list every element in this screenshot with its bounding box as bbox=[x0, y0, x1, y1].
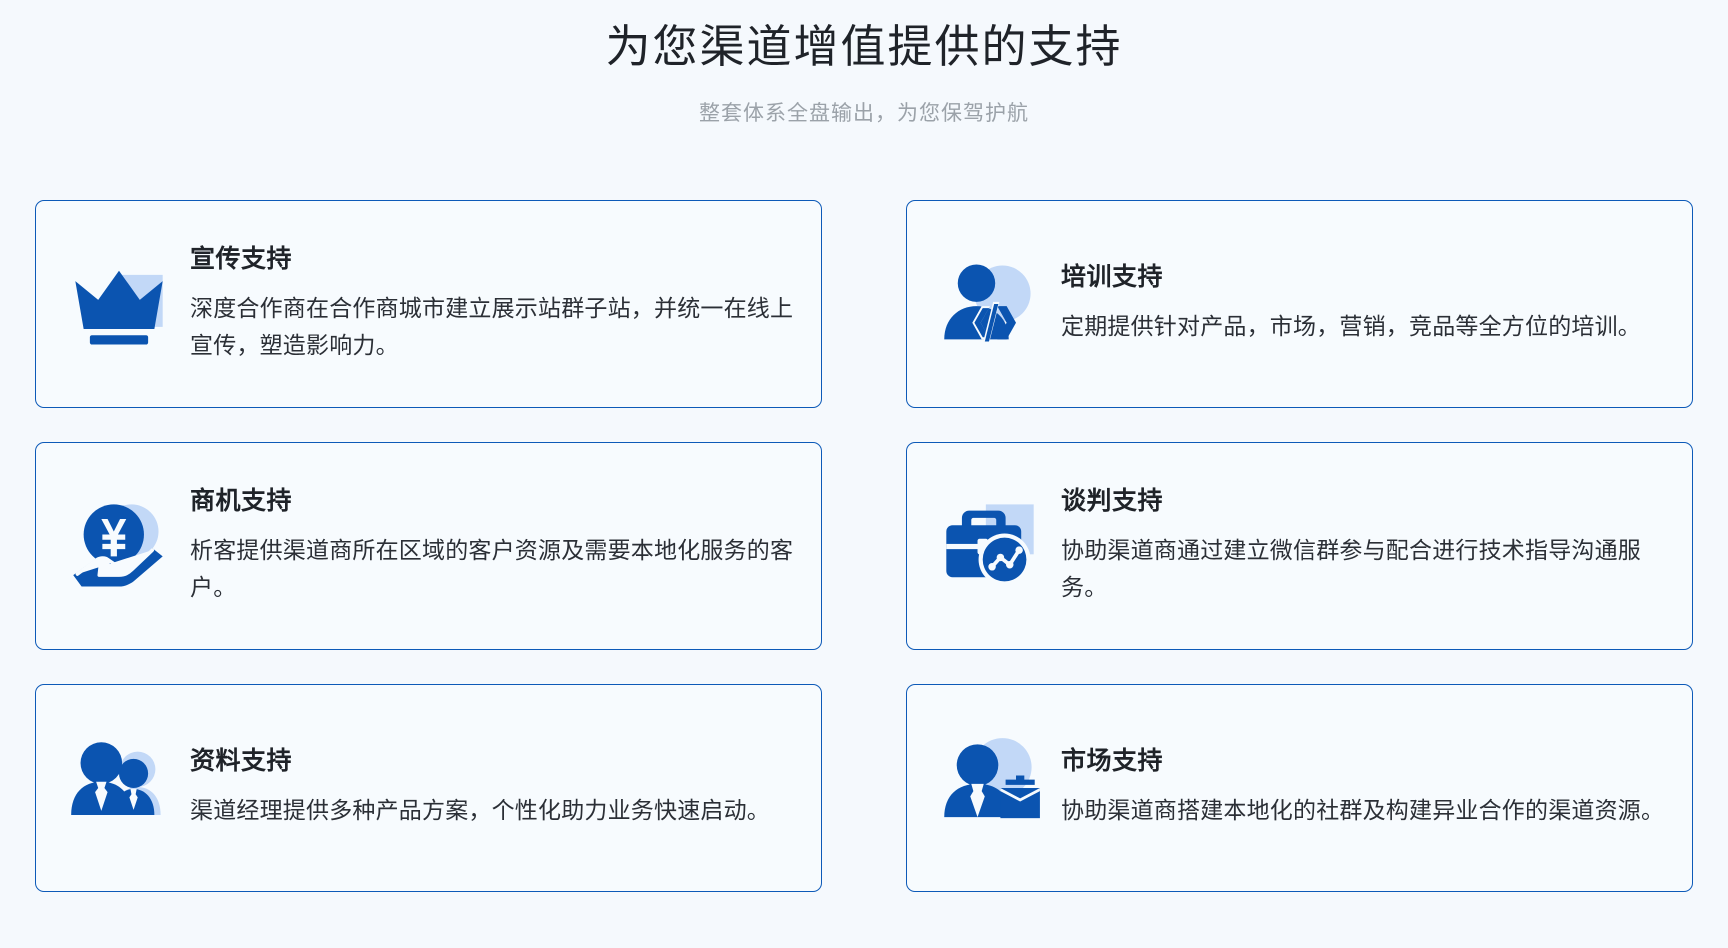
card-title: 资料支持 bbox=[190, 746, 795, 776]
card-title: 商机支持 bbox=[190, 486, 795, 516]
card-title: 培训支持 bbox=[1061, 262, 1666, 292]
card-body: 市场支持 协助渠道商搭建本地化的社群及构建异业合作的渠道资源。 bbox=[1051, 746, 1666, 829]
support-card-training[interactable]: 培训支持 定期提供针对产品，市场，营销，竞品等全方位的培训。 bbox=[906, 200, 1693, 408]
card-body: 宣传支持 深度合作商在合作商城市建立展示站群子站，并统一在线上宣传，塑造影响力。 bbox=[180, 244, 795, 365]
card-description: 协助渠道商搭建本地化的社群及构建异业合作的渠道资源。 bbox=[1061, 792, 1666, 829]
card-body: 商机支持 析客提供渠道商所在区域的客户资源及需要本地化服务的客户。 bbox=[180, 486, 795, 607]
briefcase-chart-icon bbox=[929, 485, 1051, 607]
support-cards-grid: 宣传支持 深度合作商在合作商城市建立展示站群子站，并统一在线上宣传，塑造影响力。 bbox=[35, 200, 1693, 892]
card-title: 市场支持 bbox=[1061, 746, 1666, 776]
card-description: 深度合作商在合作商城市建立展示站群子站，并统一在线上宣传，塑造影响力。 bbox=[190, 290, 795, 365]
support-card-negotiation[interactable]: 谈判支持 协助渠道商通过建立微信群参与配合进行技术指导沟通服务。 bbox=[906, 442, 1693, 650]
card-description: 协助渠道商通过建立微信群参与配合进行技术指导沟通服务。 bbox=[1061, 532, 1666, 607]
card-description: 渠道经理提供多种产品方案，个性化助力业务快速启动。 bbox=[190, 792, 795, 829]
page-header: 为您渠道增值提供的支持 整套体系全盘输出，为您保驾护航 bbox=[0, 0, 1728, 127]
person-code-icon bbox=[929, 243, 1051, 365]
support-page: 为您渠道增值提供的支持 整套体系全盘输出，为您保驾护航 宣传支持 深度合作商在合… bbox=[0, 0, 1728, 948]
card-body: 资料支持 渠道经理提供多种产品方案，个性化助力业务快速启动。 bbox=[180, 746, 795, 829]
support-card-business-opportunity[interactable]: 商机支持 析客提供渠道商所在区域的客户资源及需要本地化服务的客户。 bbox=[35, 442, 822, 650]
crown-icon bbox=[58, 243, 180, 365]
support-card-market[interactable]: 市场支持 协助渠道商搭建本地化的社群及构建异业合作的渠道资源。 bbox=[906, 684, 1693, 892]
page-subtitle: 整套体系全盘输出，为您保驾护航 bbox=[0, 97, 1728, 127]
card-title: 宣传支持 bbox=[190, 244, 795, 274]
support-card-publicity[interactable]: 宣传支持 深度合作商在合作商城市建立展示站群子站，并统一在线上宣传，塑造影响力。 bbox=[35, 200, 822, 408]
card-body: 培训支持 定期提供针对产品，市场，营销，竞品等全方位的培训。 bbox=[1051, 262, 1666, 345]
card-description: 定期提供针对产品，市场，营销，竞品等全方位的培训。 bbox=[1061, 308, 1666, 345]
page-title: 为您渠道增值提供的支持 bbox=[0, 18, 1728, 77]
businessman-briefcase-icon bbox=[929, 727, 1051, 849]
card-description: 析客提供渠道商所在区域的客户资源及需要本地化服务的客户。 bbox=[190, 532, 795, 607]
support-card-materials[interactable]: 资料支持 渠道经理提供多种产品方案，个性化助力业务快速启动。 bbox=[35, 684, 822, 892]
card-body: 谈判支持 协助渠道商通过建立微信群参与配合进行技术指导沟通服务。 bbox=[1051, 486, 1666, 607]
two-people-icon bbox=[58, 727, 180, 849]
hand-coin-yuan-icon bbox=[58, 485, 180, 607]
card-title: 谈判支持 bbox=[1061, 486, 1666, 516]
